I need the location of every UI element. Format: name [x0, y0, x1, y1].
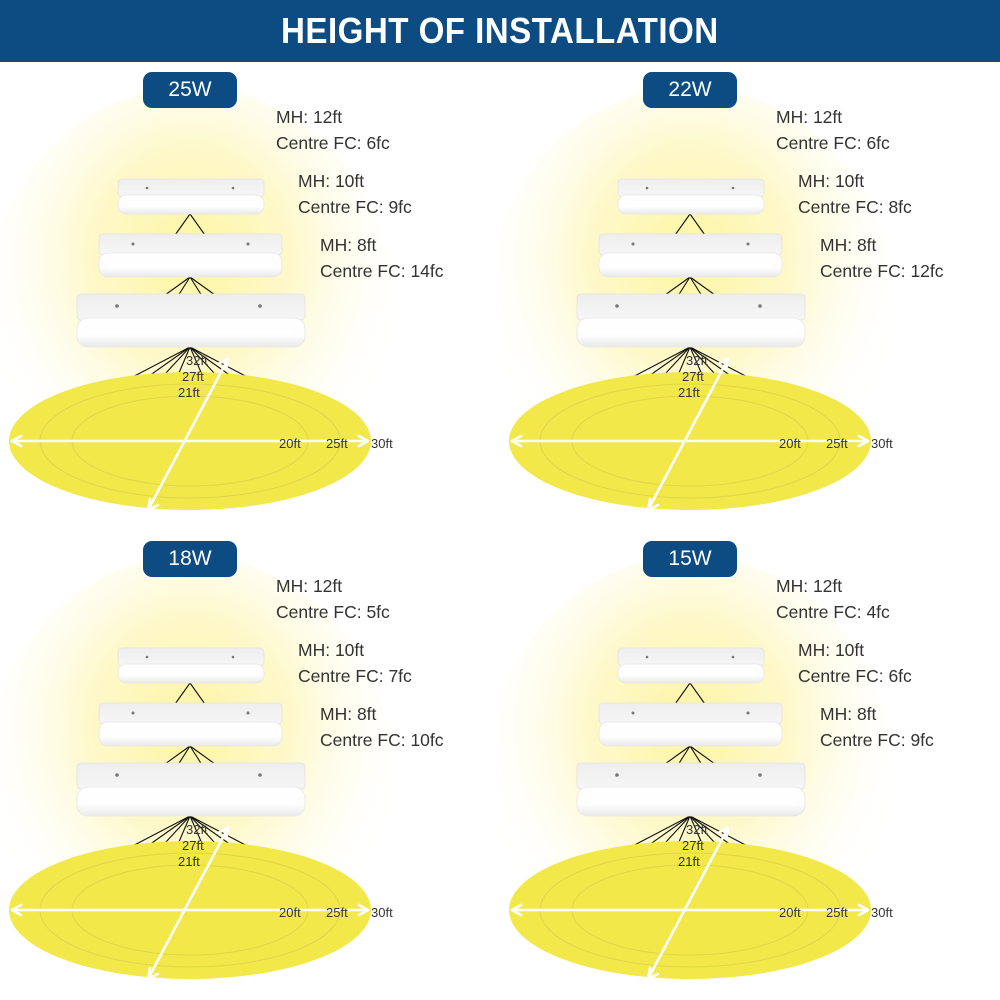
spec-list: MH: 12ft Centre FC: 6fc MH: 10ft Centre …	[776, 104, 1000, 284]
label-h-1: 25ft	[326, 436, 348, 451]
fixture-8ft	[577, 294, 805, 347]
fixture-10ft	[599, 234, 782, 277]
spec-list: MH: 12ft Centre FC: 5fc MH: 10ft Centre …	[276, 573, 501, 753]
panel-25w: 20ft 25ft 30ft 32ft 27ft 21ft 25W MH: 12…	[0, 62, 500, 531]
spec-mh: MH: 10ft	[798, 637, 1000, 663]
spec-group-10ft: MH: 10ft Centre FC: 9fc	[298, 168, 501, 220]
spec-group-10ft: MH: 10ft Centre FC: 6fc	[798, 637, 1000, 689]
spec-fc: Centre FC: 12fc	[820, 258, 1000, 284]
spec-list: MH: 12ft Centre FC: 6fc MH: 10ft Centre …	[276, 104, 501, 284]
spec-fc: Centre FC: 8fc	[798, 194, 1000, 220]
wattage-label: 18W	[168, 547, 211, 571]
spec-fc: Centre FC: 5fc	[276, 599, 501, 625]
spec-mh: MH: 12ft	[776, 104, 1000, 130]
spec-group-12ft: MH: 12ft Centre FC: 6fc	[776, 104, 1000, 156]
spec-group-8ft: MH: 8ft Centre FC: 12fc	[820, 232, 1000, 284]
wattage-label: 15W	[668, 547, 711, 571]
fixture-8ft	[577, 763, 805, 816]
label-h-2: 30ft	[371, 905, 393, 920]
label-d-0: 32ft	[186, 822, 208, 837]
label-h-1: 25ft	[326, 905, 348, 920]
spec-fc: Centre FC: 4fc	[776, 599, 1000, 625]
spec-group-8ft: MH: 8ft Centre FC: 9fc	[820, 701, 1000, 753]
fixture-10ft	[599, 703, 782, 746]
label-h-0: 20ft	[779, 905, 801, 920]
fixture-12ft	[618, 179, 764, 214]
label-d-2: 21ft	[678, 854, 700, 869]
label-d-1: 27ft	[182, 369, 204, 384]
fixture-12ft	[118, 648, 264, 683]
fixture-10ft	[99, 234, 282, 277]
wattage-label: 22W	[668, 78, 711, 102]
installation-height-infographic: HEIGHT OF INSTALLATION	[0, 0, 1000, 1000]
panel-grid: 20ft 25ft 30ft 32ft 27ft 21ft 25W MH: 12…	[0, 62, 1000, 1000]
fixture-8ft	[77, 763, 305, 816]
fixture-10ft	[99, 703, 282, 746]
label-d-0: 32ft	[686, 822, 708, 837]
spec-fc: Centre FC: 6fc	[798, 663, 1000, 689]
page-title: HEIGHT OF INSTALLATION	[281, 10, 719, 52]
label-d-2: 21ft	[678, 385, 700, 400]
spec-group-12ft: MH: 12ft Centre FC: 5fc	[276, 573, 501, 625]
spec-fc: Centre FC: 10fc	[320, 727, 501, 753]
spec-group-10ft: MH: 10ft Centre FC: 8fc	[798, 168, 1000, 220]
label-d-2: 21ft	[178, 854, 200, 869]
label-d-1: 27ft	[682, 369, 704, 384]
spec-group-10ft: MH: 10ft Centre FC: 7fc	[298, 637, 501, 689]
label-h-0: 20ft	[279, 905, 301, 920]
spec-fc: Centre FC: 6fc	[276, 130, 501, 156]
label-h-2: 30ft	[871, 436, 893, 451]
spec-mh: MH: 10ft	[298, 168, 501, 194]
spec-mh: MH: 8ft	[320, 701, 501, 727]
spec-group-8ft: MH: 8ft Centre FC: 14fc	[320, 232, 501, 284]
spec-mh: MH: 10ft	[298, 637, 501, 663]
label-d-1: 27ft	[182, 838, 204, 853]
spec-fc: Centre FC: 6fc	[776, 130, 1000, 156]
panel-22w: 20ft 25ft 30ft 32ft 27ft 21ft 22W MH: 12…	[500, 62, 1000, 531]
spec-mh: MH: 8ft	[320, 232, 501, 258]
spec-fc: Centre FC: 9fc	[820, 727, 1000, 753]
label-d-0: 32ft	[686, 353, 708, 368]
panel-18w: 20ft 25ft 30ft 32ft 27ft 21ft 18W MH: 12…	[0, 531, 500, 1000]
page-header: HEIGHT OF INSTALLATION	[0, 0, 1000, 62]
spec-fc: Centre FC: 9fc	[298, 194, 501, 220]
label-h-2: 30ft	[371, 436, 393, 451]
label-d-1: 27ft	[682, 838, 704, 853]
fixture-12ft	[618, 648, 764, 683]
fixture-8ft	[77, 294, 305, 347]
label-h-0: 20ft	[779, 436, 801, 451]
spec-group-8ft: MH: 8ft Centre FC: 10fc	[320, 701, 501, 753]
spec-mh: MH: 8ft	[820, 701, 1000, 727]
label-d-2: 21ft	[178, 385, 200, 400]
spec-group-12ft: MH: 12ft Centre FC: 6fc	[276, 104, 501, 156]
spec-fc: Centre FC: 7fc	[298, 663, 501, 689]
label-h-1: 25ft	[826, 905, 848, 920]
spec-mh: MH: 12ft	[276, 104, 501, 130]
spec-mh: MH: 12ft	[276, 573, 501, 599]
label-d-0: 32ft	[186, 353, 208, 368]
spec-mh: MH: 12ft	[776, 573, 1000, 599]
spec-fc: Centre FC: 14fc	[320, 258, 501, 284]
label-h-0: 20ft	[279, 436, 301, 451]
label-h-2: 30ft	[871, 905, 893, 920]
spec-group-12ft: MH: 12ft Centre FC: 4fc	[776, 573, 1000, 625]
spec-list: MH: 12ft Centre FC: 4fc MH: 10ft Centre …	[776, 573, 1000, 753]
fixture-12ft	[118, 179, 264, 214]
wattage-label: 25W	[168, 78, 211, 102]
panel-15w: 20ft 25ft 30ft 32ft 27ft 21ft 15W MH: 12…	[500, 531, 1000, 1000]
spec-mh: MH: 8ft	[820, 232, 1000, 258]
wattage-badge[interactable]: 18W	[143, 541, 237, 577]
wattage-badge[interactable]: 22W	[643, 72, 737, 108]
spec-mh: MH: 10ft	[798, 168, 1000, 194]
wattage-badge[interactable]: 15W	[643, 541, 737, 577]
label-h-1: 25ft	[826, 436, 848, 451]
wattage-badge[interactable]: 25W	[143, 72, 237, 108]
